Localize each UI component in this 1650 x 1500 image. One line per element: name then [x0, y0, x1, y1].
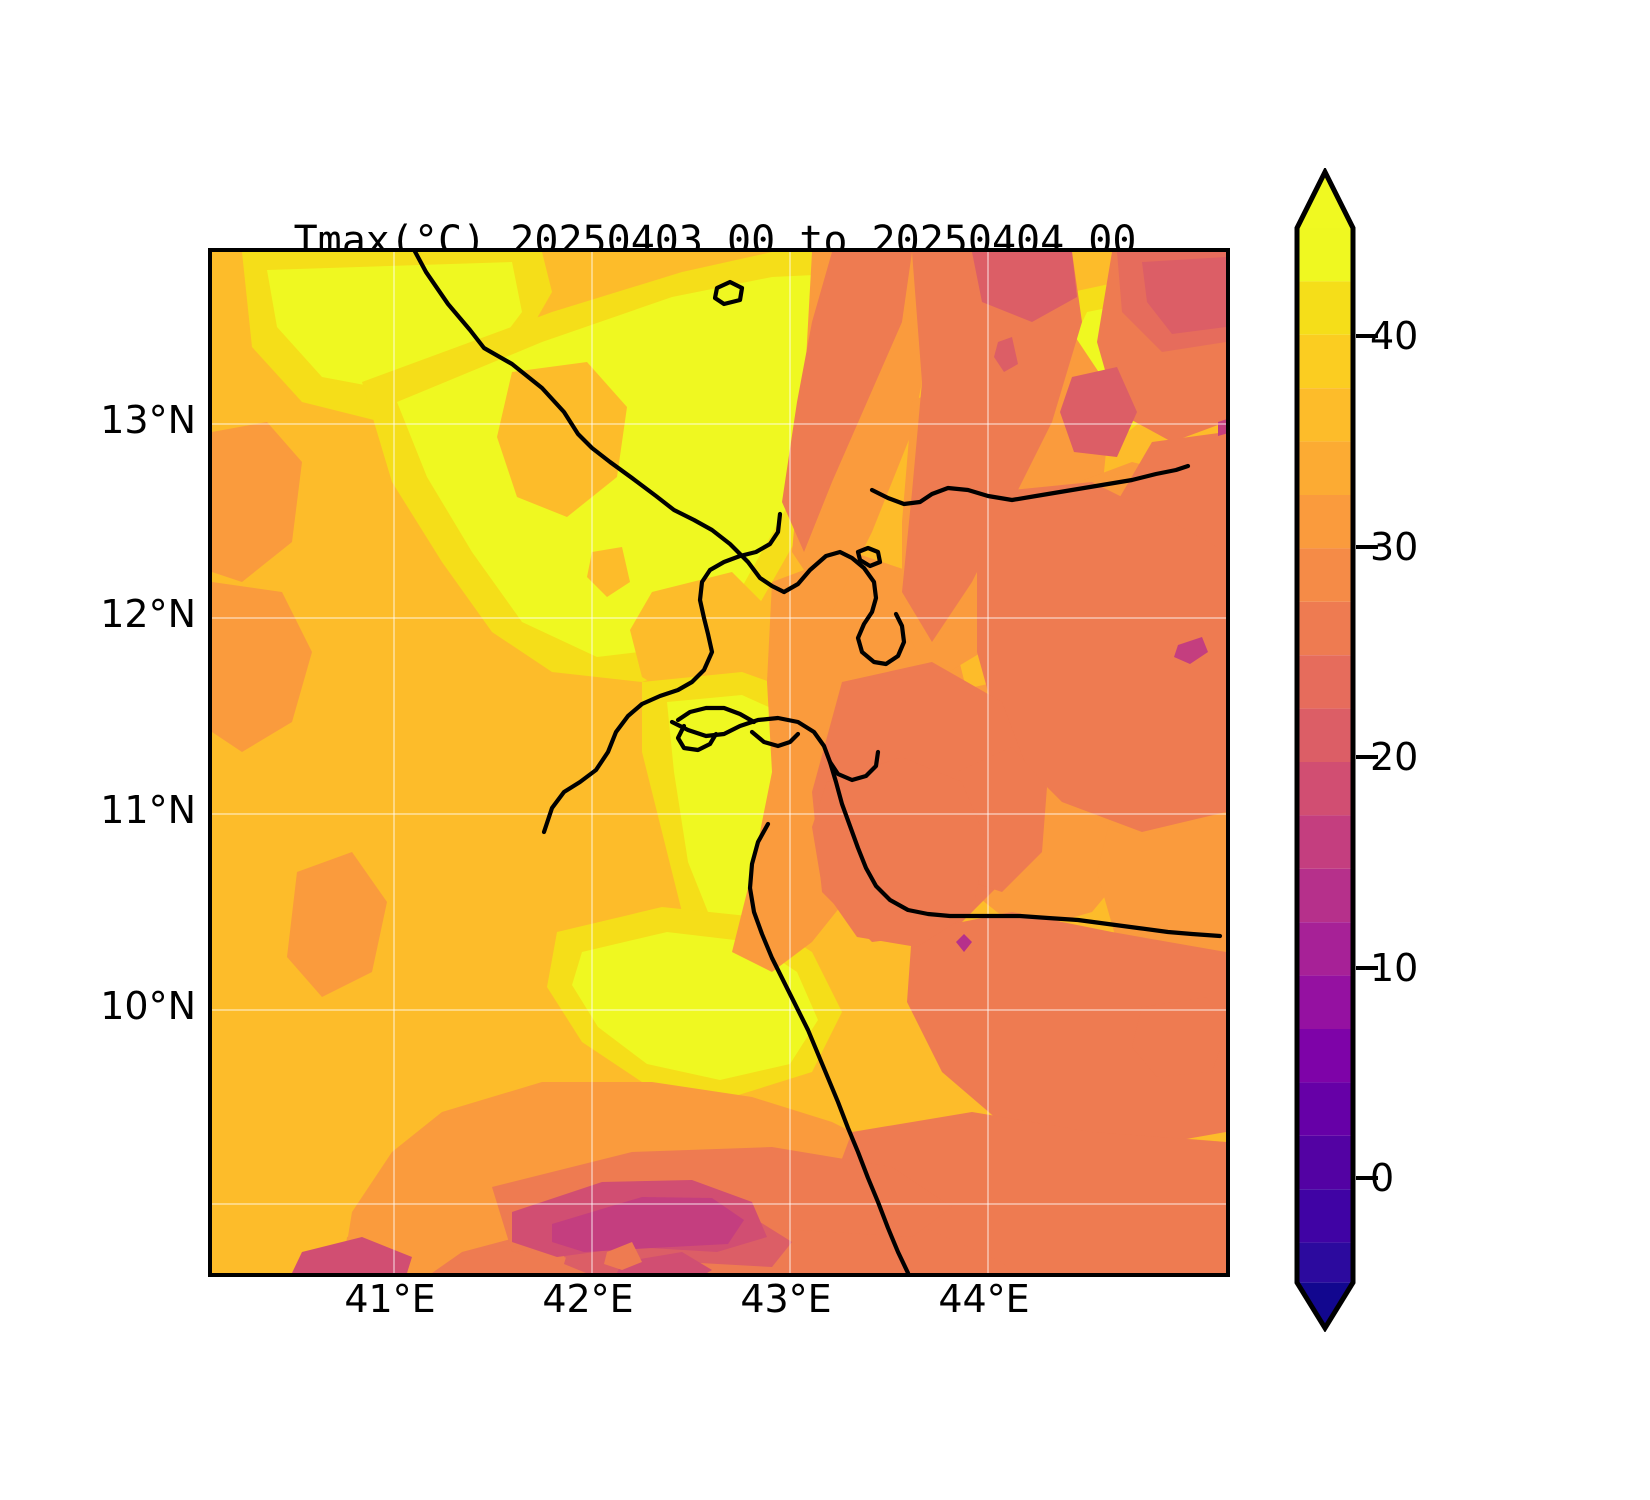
- x-tick-label-42e: 42°E: [488, 1277, 688, 1321]
- colorbar-tick-label-20: 20: [1370, 735, 1418, 779]
- y-tick-label-10n: 10°N: [36, 984, 196, 1028]
- y-tick-label-12n: 12°N: [36, 592, 196, 636]
- temperature-contour-field: [212, 252, 1226, 1273]
- y-tick-label-11n: 11°N: [36, 788, 196, 832]
- colorbar-tick-label-0: 0: [1370, 1156, 1394, 1200]
- map-plot-area[interactable]: [208, 248, 1230, 1277]
- colorbar-gradient: [1294, 168, 1356, 1332]
- colorbar-tick-label-30: 30: [1370, 525, 1418, 569]
- x-tick-label-41e: 41°E: [290, 1277, 490, 1321]
- x-tick-label-44e: 44°E: [884, 1277, 1084, 1321]
- colorbar-tick-label-40: 40: [1370, 314, 1418, 358]
- colorbar-tick-label-10: 10: [1370, 946, 1418, 990]
- x-tick-label-43e: 43°E: [686, 1277, 886, 1321]
- y-tick-label-13n: 13°N: [36, 398, 196, 442]
- colorbar[interactable]: 40 30 20 10 0: [1294, 168, 1356, 1332]
